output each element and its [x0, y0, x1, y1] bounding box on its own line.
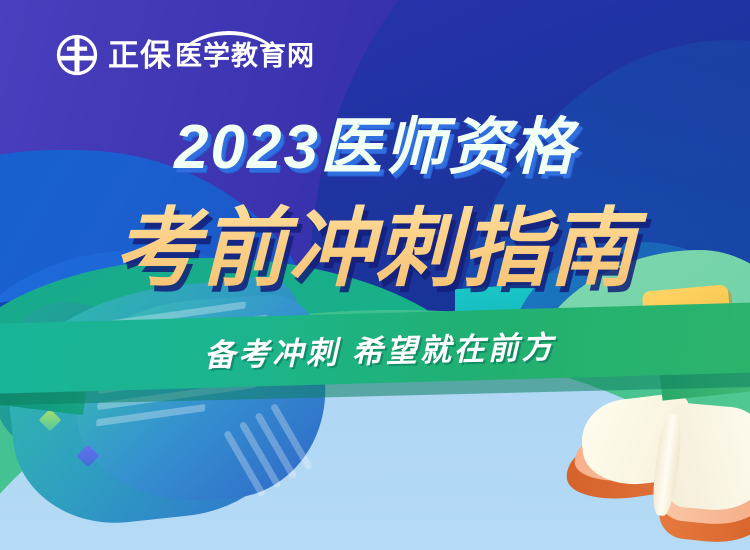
headline-year-title: 2023医师资格 [0, 96, 750, 186]
circle-cross-medical-icon [56, 34, 98, 76]
brand-name-primary: 正保 [108, 40, 172, 71]
open-book-icon [560, 372, 750, 550]
brand-name: 正保 医学教育网 [108, 40, 315, 71]
slogan-text: 备考冲刺 希望就在前方 [204, 321, 557, 375]
brand-logo[interactable]: 正保 医学教育网 [56, 34, 315, 76]
promo-banner: 备考冲刺 希望就在前方 2023医师资格 考前冲刺指南 正保 医学教育网 [0, 0, 750, 550]
brand-name-secondary: 医学教育网 [175, 43, 315, 71]
logo-arc-decoration [170, 31, 288, 47]
headline-main-title: 考前冲刺指南 [0, 178, 750, 303]
